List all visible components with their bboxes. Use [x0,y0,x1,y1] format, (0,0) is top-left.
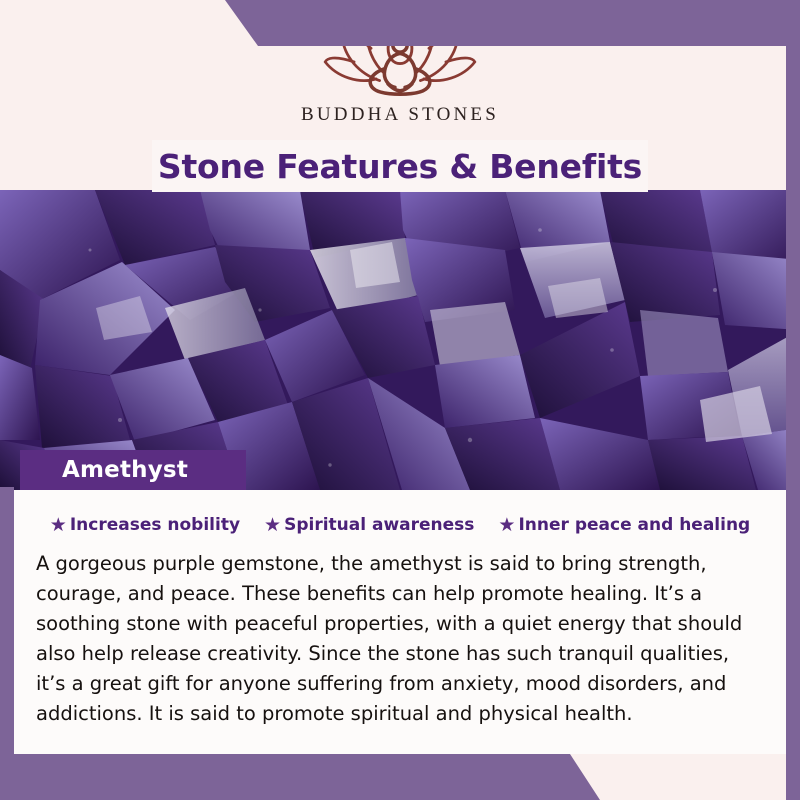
benefit-item-2: ★ Spiritual awareness [264,515,474,535]
brand-name: BUDDHA STONES [301,104,499,126]
benefits-list: ★ Increases nobility ★ Spiritual awarene… [14,515,786,535]
stone-name: Amethyst [62,457,188,483]
benefit-label: Spiritual awareness [284,515,474,535]
stone-info-card: BUDDHA STONES Stone Features & Benefits [0,0,800,800]
frame-left-accent [0,487,14,800]
benefit-label: Inner peace and healing [518,515,750,535]
benefit-item-3: ★ Inner peace and healing [498,515,750,535]
benefit-item-1: ★ Increases nobility [50,515,240,535]
frame-right-accent [786,0,800,800]
star-icon: ★ [264,516,281,535]
page-title: Stone Features & Benefits [158,147,642,186]
star-icon: ★ [50,516,67,535]
stone-name-banner: Amethyst [20,450,246,490]
benefit-label: Increases nobility [70,515,240,535]
amethyst-hero-image [0,190,800,490]
description-text: A gorgeous purple gemstone, the amethyst… [36,549,764,729]
stone-description-panel: ★ Increases nobility ★ Spiritual awarene… [14,490,786,754]
star-icon: ★ [498,516,515,535]
frame-bottom-accent [0,754,800,800]
page-title-band: Stone Features & Benefits [152,140,648,192]
